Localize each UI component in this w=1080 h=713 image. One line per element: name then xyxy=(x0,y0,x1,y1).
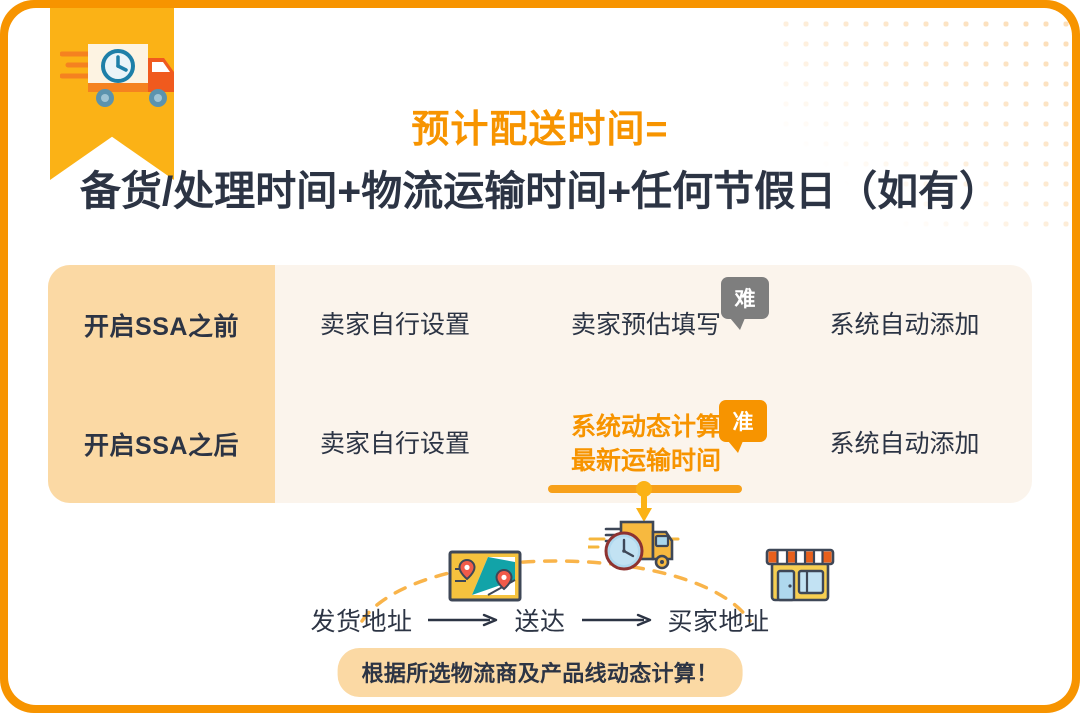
comparison-card: 开启SSA之前 开启SSA之后 卖家自行设置 卖家预估填写 难 系统自动添加 xyxy=(48,265,1032,503)
cell-text-line1: 系统动态计算 xyxy=(571,413,721,441)
cell-text: 系统自动添加 xyxy=(829,427,979,461)
cell-text: 卖家预估填写 xyxy=(571,308,721,342)
comparison-label-column: 开启SSA之前 开启SSA之后 xyxy=(48,265,275,503)
journey-label-destination: 买家地址 xyxy=(668,602,770,638)
cell-after-holiday: 系统自动添加 xyxy=(777,384,1032,503)
storefront-icon xyxy=(763,546,837,602)
journey-label-transit: 送达 xyxy=(514,602,565,638)
arrow-right-icon xyxy=(580,613,654,627)
truck-clock-icon xyxy=(588,513,680,579)
arrow-right-icon xyxy=(426,613,500,627)
cell-after-prep: 卖家自行设置 xyxy=(275,384,515,503)
cell-text: 卖家自行设置 xyxy=(320,427,470,461)
cell-before-transit: 卖家预估填写 难 xyxy=(515,265,777,384)
title-line-2: 备货/处理时间+物流运输时间+任何节假日（如有） xyxy=(8,160,1072,222)
cell-before-prep: 卖家自行设置 xyxy=(275,265,515,384)
cell-text-accent: 系统动态计算最新运输时间 xyxy=(571,410,721,478)
table-row: 卖家自行设置 卖家预估填写 难 系统自动添加 xyxy=(275,265,1032,384)
footer-note-pill: 根据所选物流商及产品线动态计算！ xyxy=(338,648,743,697)
map-pin-icon xyxy=(448,550,522,602)
title-line-1: 预计配送时间= xyxy=(8,104,1072,156)
cell-before-holiday: 系统自动添加 xyxy=(777,265,1032,384)
title-block: 预计配送时间= 备货/处理时间+物流运输时间+任何节假日（如有） xyxy=(8,104,1072,222)
infographic-frame: 预计配送时间= 备货/处理时间+物流运输时间+任何节假日（如有） 开启SSA之前… xyxy=(0,0,1080,713)
journey-label-origin: 发货地址 xyxy=(310,602,412,638)
infographic-canvas: 预计配送时间= 备货/处理时间+物流运输时间+任何节假日（如有） 开启SSA之前… xyxy=(8,8,1072,705)
status-badge-hard: 难 xyxy=(721,277,769,319)
journey-labels: 发货地址 送达 买家地址 xyxy=(8,602,1072,638)
status-badge-accurate: 准 xyxy=(719,400,767,442)
cell-text: 系统自动添加 xyxy=(829,308,979,342)
row-label-before: 开启SSA之前 xyxy=(48,265,275,384)
delivery-truck-clock-icon xyxy=(60,36,188,114)
row-label-after: 开启SSA之后 xyxy=(48,384,275,503)
cell-text-line2: 最新运输时间 xyxy=(571,447,721,475)
comparison-value-columns: 卖家自行设置 卖家预估填写 难 系统自动添加 卖家自行设置 系统动 xyxy=(275,265,1032,503)
cell-text: 卖家自行设置 xyxy=(320,308,470,342)
